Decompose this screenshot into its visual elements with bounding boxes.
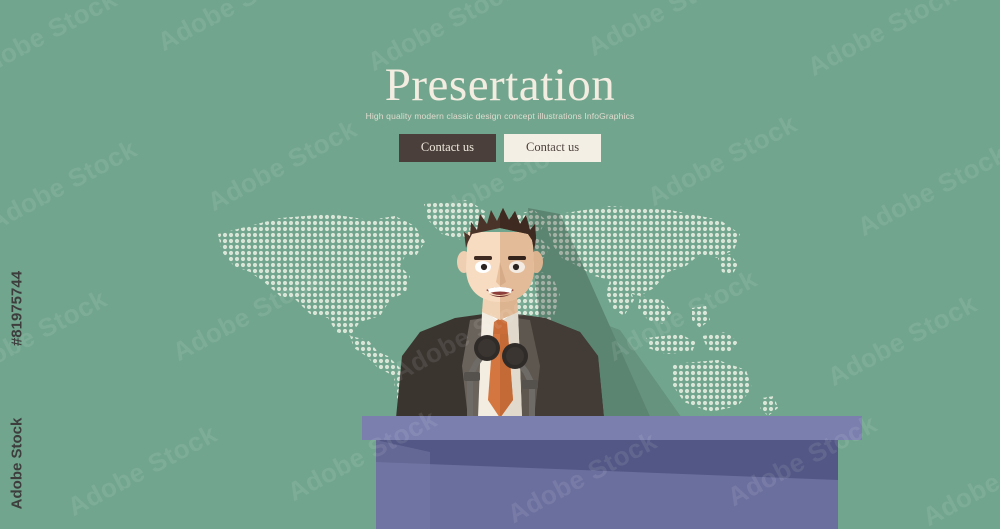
world-map-svg [210,196,790,431]
illustration-canvas: Presertation High quality modern classic… [0,0,1000,529]
page-subtitle: High quality modern classic design conce… [0,111,1000,121]
contact-us-button-primary[interactable]: Contact us [399,134,496,162]
dotted-world-map [210,196,790,431]
contact-us-button-secondary[interactable]: Contact us [504,134,601,162]
cta-button-row: Contact us Contact us [0,134,1000,162]
page-title: Presertation [0,62,1000,109]
